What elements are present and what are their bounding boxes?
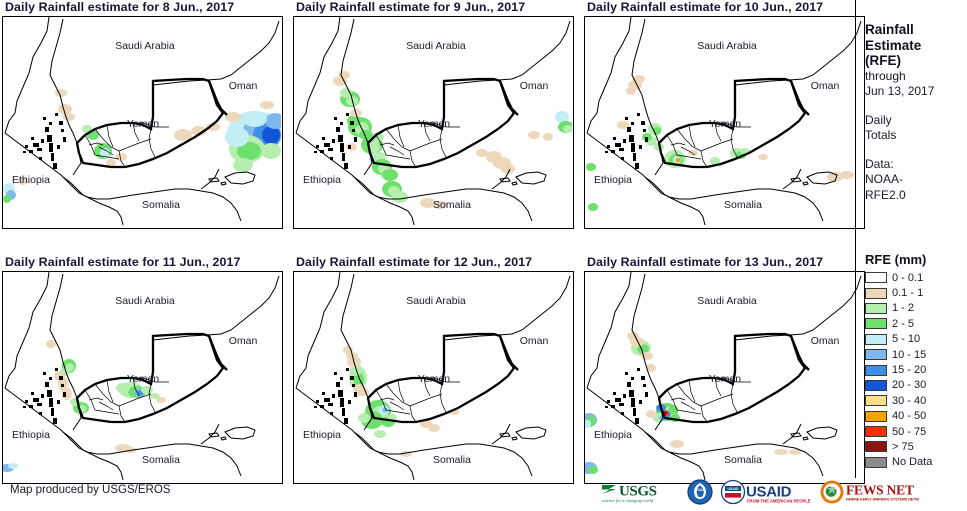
country-label-3: Ethiopia <box>594 174 632 186</box>
legend-swatch-4 <box>865 334 887 345</box>
coastal-islands-2 <box>314 113 357 169</box>
legend-item-7[interactable]: 20 - 30 <box>865 378 932 393</box>
country-label-3: Ethiopia <box>594 429 632 441</box>
country-label-1: Oman <box>811 335 840 347</box>
country-label-2: Yemen <box>709 118 741 130</box>
rfe-title-line-1: Rainfall <box>865 22 967 38</box>
legend-column: Rainfall Estimate (RFE) through Jun 13, … <box>855 0 967 478</box>
country-label-0: Saudi Arabia <box>697 295 757 307</box>
panel-title-1: Daily Rainfall estimate for 8 Jun., 2017 <box>2 0 283 16</box>
legend-item-5[interactable]: 10 - 15 <box>865 347 932 362</box>
legend-item-2[interactable]: 1 - 2 <box>865 301 932 316</box>
legend-label-8: 30 - 40 <box>892 395 926 407</box>
country-label-2: Yemen <box>127 118 159 130</box>
legend-swatch-7 <box>865 380 887 391</box>
usaid-logo: USAID USAID FROM THE AMERICAN PEOPLE <box>720 478 812 505</box>
legend-label-4: 5 - 10 <box>892 333 920 345</box>
legend-label-12: No Data <box>892 456 932 468</box>
legend-item-9[interactable]: 40 - 50 <box>865 409 932 424</box>
map-credit: Map produced by USGS/EROS <box>10 484 170 496</box>
panel-title-5: Daily Rainfall estimate for 12 Jun., 201… <box>293 255 574 271</box>
legend-swatch-0 <box>865 272 887 283</box>
country-label-4: Somalia <box>724 454 762 466</box>
svg-text:FAMINE EARLY WARNING SYSTEMS N: FAMINE EARLY WARNING SYSTEMS NETWORK <box>846 497 919 501</box>
country-label-1: Oman <box>520 80 549 92</box>
legend-label-11: > 75 <box>892 441 914 453</box>
map-panel-5[interactable]: Daily Rainfall estimate for 12 Jun., 201… <box>293 255 574 484</box>
svg-text:FEWS NET: FEWS NET <box>846 482 914 497</box>
map-frame-4: Saudi ArabiaOmanYemenEthiopiaSomalia <box>2 271 283 484</box>
rfe-title-line-2: Estimate <box>865 38 967 54</box>
legend-swatch-9 <box>865 411 887 422</box>
country-label-3: Ethiopia <box>303 429 341 441</box>
legend-swatch-3 <box>865 318 887 329</box>
usgs-logo: USGS science for a changing world <box>600 478 680 505</box>
map-frame-3: Saudi ArabiaOmanYemenEthiopiaSomalia <box>584 16 865 229</box>
legend-label-0: 0 - 0.1 <box>892 272 923 284</box>
legend-label-7: 20 - 30 <box>892 379 926 391</box>
country-label-3: Ethiopia <box>303 174 341 186</box>
country-label-4: Somalia <box>142 199 180 211</box>
country-label-0: Saudi Arabia <box>697 40 757 52</box>
svg-text:USAID: USAID <box>727 487 739 491</box>
map-frame-1: Saudi ArabiaOmanYemenEthiopiaSomalia <box>2 16 283 229</box>
legend-label-1: 0.1 - 1 <box>892 287 923 299</box>
rfe-totals-label: Totals <box>865 128 967 144</box>
country-label-1: Oman <box>229 80 258 92</box>
coastal-islands-3 <box>605 113 648 169</box>
legend-item-10[interactable]: 50 - 75 <box>865 424 932 439</box>
country-label-1: Oman <box>520 335 549 347</box>
rainfall-raster-4 <box>3 340 166 472</box>
coastal-islands-6 <box>605 368 648 424</box>
legend-swatch-10 <box>865 426 887 437</box>
legend-title: RFE (mm) <box>865 252 926 267</box>
legend-swatch-1 <box>865 288 887 299</box>
panel-title-3: Daily Rainfall estimate for 10 Jun., 201… <box>584 0 865 16</box>
legend-swatch-2 <box>865 303 887 314</box>
coastal-islands-5 <box>314 368 357 424</box>
rfe-data-source-1: NOAA- <box>865 172 967 188</box>
rainfall-raster-3 <box>586 75 854 211</box>
rfe-data-label: Data: <box>865 157 967 173</box>
coastal-islands-1 <box>23 113 66 169</box>
legend-label-6: 15 - 20 <box>892 364 926 376</box>
legend-label-2: 1 - 2 <box>892 302 914 314</box>
country-label-0: Saudi Arabia <box>115 40 175 52</box>
rainfall-raster-6 <box>585 332 801 474</box>
legend-item-6[interactable]: 15 - 20 <box>865 362 932 377</box>
country-label-2: Yemen <box>418 118 450 130</box>
legend-items: 0 - 0.10.1 - 11 - 22 - 55 - 1010 - 1515 … <box>865 270 932 470</box>
legend-item-12[interactable]: No Data <box>865 455 932 470</box>
map-panel-grid: Daily Rainfall estimate for 8 Jun., 2017… <box>0 0 855 478</box>
legend-label-3: 2 - 5 <box>892 318 914 330</box>
country-label-4: Somalia <box>724 199 762 211</box>
noaa-logo: NOAA <box>687 478 713 505</box>
panel-title-6: Daily Rainfall estimate for 13 Jun., 201… <box>584 255 865 271</box>
legend-item-11[interactable]: > 75 <box>865 439 932 454</box>
country-label-4: Somalia <box>142 454 180 466</box>
country-label-0: Saudi Arabia <box>115 295 175 307</box>
legend-item-8[interactable]: 30 - 40 <box>865 393 932 408</box>
legend-swatch-6 <box>865 365 887 376</box>
fews-net-logo: FEWS NET FAMINE EARLY WARNING SYSTEMS NE… <box>819 478 919 505</box>
legend-swatch-12 <box>865 457 887 468</box>
rfe-daily-label: Daily <box>865 113 967 129</box>
map-panel-1[interactable]: Daily Rainfall estimate for 8 Jun., 2017… <box>2 0 283 229</box>
legend-swatch-11 <box>865 441 887 452</box>
country-label-4: Somalia <box>433 199 471 211</box>
country-label-3: Ethiopia <box>12 429 50 441</box>
svg-text:FROM THE AMERICAN PEOPLE: FROM THE AMERICAN PEOPLE <box>747 498 811 503</box>
country-label-3: Ethiopia <box>12 174 50 186</box>
country-label-0: Saudi Arabia <box>406 295 466 307</box>
country-label-2: Yemen <box>709 373 741 385</box>
map-panel-2[interactable]: Daily Rainfall estimate for 9 Jun., 2017… <box>293 0 574 229</box>
rfe-through-label: through <box>865 69 967 85</box>
legend-item-0[interactable]: 0 - 0.1 <box>865 270 932 285</box>
rfe-data-source-2: RFE2.0 <box>865 188 967 204</box>
country-label-0: Saudi Arabia <box>406 40 466 52</box>
panel-title-2: Daily Rainfall estimate for 9 Jun., 2017 <box>293 0 574 16</box>
map-panel-3[interactable]: Daily Rainfall estimate for 10 Jun., 201… <box>584 0 865 229</box>
coastal-islands-4 <box>23 368 66 424</box>
rfe-through-date: Jun 13, 2017 <box>865 84 967 100</box>
legend-label-10: 50 - 75 <box>892 426 926 438</box>
legend-swatch-5 <box>865 349 887 360</box>
legend-label-5: 10 - 15 <box>892 349 926 361</box>
legend-label-9: 40 - 50 <box>892 410 926 422</box>
panel-title-4: Daily Rainfall estimate for 11 Jun., 201… <box>2 255 283 271</box>
legend-item-1[interactable]: 0.1 - 1 <box>865 285 932 300</box>
country-label-4: Somalia <box>433 454 471 466</box>
legend-item-4[interactable]: 5 - 10 <box>865 332 932 347</box>
svg-text:science for a changing world: science for a changing world <box>602 498 654 503</box>
country-label-2: Yemen <box>418 373 450 385</box>
map-frame-6: Saudi ArabiaOmanYemenEthiopiaSomalia <box>584 271 865 484</box>
country-label-1: Oman <box>811 80 840 92</box>
map-panel-4[interactable]: Daily Rainfall estimate for 11 Jun., 201… <box>2 255 283 484</box>
rfe-title-line-3: (RFE) <box>865 53 967 69</box>
legend-item-3[interactable]: 2 - 5 <box>865 316 932 331</box>
map-panel-6[interactable]: Daily Rainfall estimate for 13 Jun., 201… <box>584 255 865 484</box>
agency-logos: USGS science for a changing world NOAA U… <box>600 478 919 505</box>
svg-text:NOAA: NOAA <box>695 488 706 492</box>
country-label-1: Oman <box>229 335 258 347</box>
map-frame-5: Saudi ArabiaOmanYemenEthiopiaSomalia <box>293 271 574 484</box>
country-label-2: Yemen <box>127 373 159 385</box>
rfe-header-block: Rainfall Estimate (RFE) through Jun 13, … <box>856 0 967 203</box>
map-frame-2: Saudi ArabiaOmanYemenEthiopiaSomalia <box>293 16 574 229</box>
legend-swatch-8 <box>865 395 887 406</box>
